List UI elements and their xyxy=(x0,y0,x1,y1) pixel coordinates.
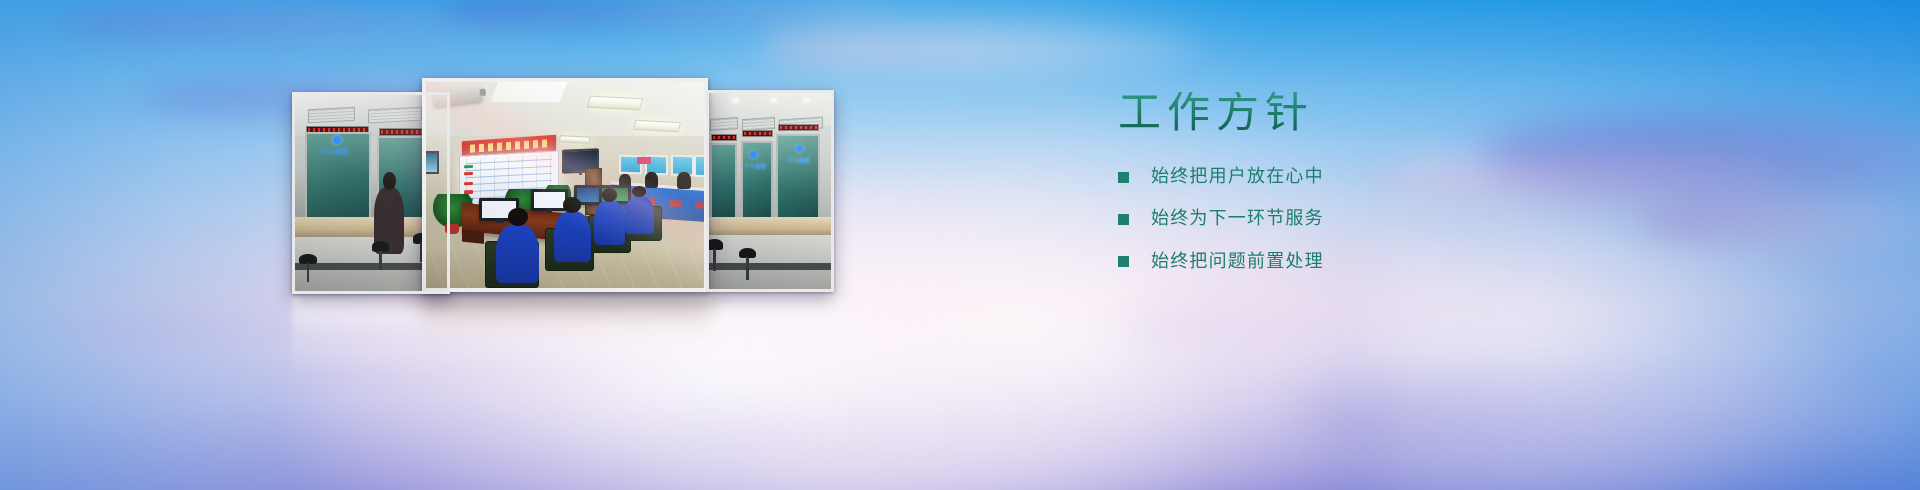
teller-window xyxy=(741,141,773,222)
window-label: 个人业务 xyxy=(744,163,766,170)
notice-board xyxy=(694,155,708,178)
photo-center-control-room xyxy=(422,78,708,292)
ceiling-light-icon xyxy=(559,135,592,144)
led-sign xyxy=(711,134,737,141)
led-sign xyxy=(742,130,773,137)
policy-bullet-item: 始终把用户放在心中 xyxy=(1118,165,1678,189)
photo-right-teller-row: 个人业务 个人业务 xyxy=(706,90,834,292)
notice-board-highlight xyxy=(637,157,651,163)
worker-blue-uniform xyxy=(496,224,539,284)
counter-top xyxy=(706,217,834,235)
led-sign xyxy=(778,124,819,131)
worker-blue-uniform xyxy=(554,211,591,262)
square-bullet-icon xyxy=(1118,256,1129,267)
teller-window xyxy=(710,143,737,220)
bar-stool xyxy=(368,241,393,273)
text-panel: 工作方针 始终把用户放在心中 始终为下一环节服务 始终把问题前置处理 xyxy=(1118,92,1678,274)
staff-member xyxy=(677,172,691,189)
policy-bullet-label: 始终把问题前置处理 xyxy=(1151,250,1324,274)
scene-teller-row: 个人业务 个人业务 xyxy=(706,90,834,292)
wall-tv xyxy=(422,151,439,175)
display-tag xyxy=(464,164,473,168)
desktop-monitor xyxy=(531,189,568,210)
window-label: 个人业务 xyxy=(320,147,348,156)
policy-bullet-item: 始终把问题前置处理 xyxy=(1118,250,1678,274)
staff-member xyxy=(645,172,658,188)
bar-stool xyxy=(295,254,320,286)
policy-bullet-item: 始终为下一环节服务 xyxy=(1118,207,1678,231)
bar-stool xyxy=(737,248,759,284)
photo-collage: 个人业务 xyxy=(288,72,848,312)
square-bullet-icon xyxy=(1118,214,1129,225)
bank-logo-icon xyxy=(750,151,757,158)
plant-pot xyxy=(445,224,459,235)
ceiling-light-icon xyxy=(732,98,739,103)
bank-logo-icon xyxy=(796,145,803,152)
air-vent xyxy=(742,117,775,131)
worker-blue-uniform xyxy=(594,200,625,245)
worker-blue-uniform xyxy=(625,196,654,235)
bar-stool xyxy=(706,239,725,275)
panel-title: 工作方针 xyxy=(1118,92,1678,135)
policy-bullet-label: 始终为下一环节服务 xyxy=(1151,207,1324,231)
display-tag xyxy=(464,182,473,186)
air-vent xyxy=(710,117,738,131)
scene-control-room xyxy=(422,78,708,292)
promo-banner: 个人业务 xyxy=(0,0,1920,490)
square-bullet-icon xyxy=(1118,172,1129,183)
air-vent xyxy=(308,107,355,124)
skylight xyxy=(491,78,571,102)
policy-bullet-label: 始终把用户放在心中 xyxy=(1151,165,1324,189)
ceiling-light-icon xyxy=(633,120,681,132)
policy-bullet-list: 始终把用户放在心中 始终为下一环节服务 始终把问题前置处理 xyxy=(1118,165,1678,274)
window-label: 个人业务 xyxy=(788,157,810,164)
air-vent xyxy=(368,107,422,124)
